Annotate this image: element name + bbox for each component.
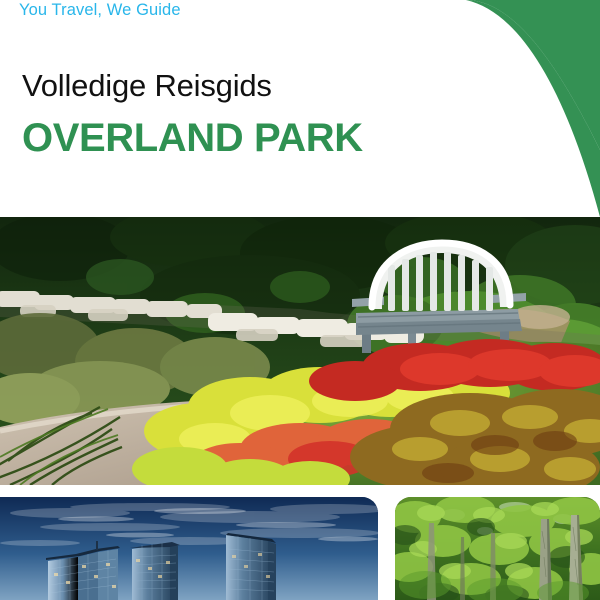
tower-right [224, 533, 276, 600]
cover-header: You Travel, We Guide Volledige Reisgids … [0, 0, 600, 217]
office-towers-illustration [0, 497, 378, 600]
green-curve-accent-icon [0, 0, 600, 217]
tower-tall [130, 542, 180, 600]
office-towers-photo [0, 497, 378, 600]
garden-bench-flowerbed-illustration [0, 217, 600, 485]
tagline: You Travel, We Guide [19, 1, 181, 20]
page-title: OVERLAND PARK [22, 116, 363, 161]
hero-photo [0, 217, 600, 485]
guide-cover: You Travel, We Guide Volledige Reisgids … [0, 0, 600, 600]
forest-trees-photo [395, 497, 600, 600]
subtitle: Volledige Reisgids [22, 68, 272, 104]
forest-illustration [395, 497, 600, 600]
